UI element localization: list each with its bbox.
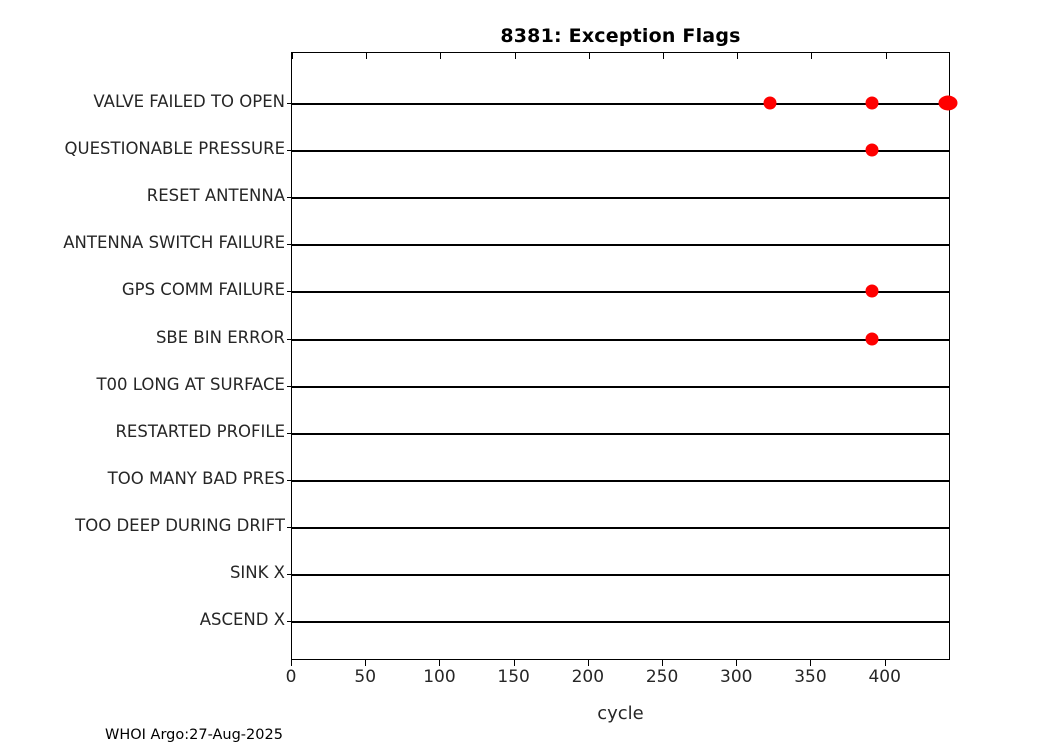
y-axis-tick-label: VALVE FAILED TO OPEN: [93, 94, 285, 111]
data-point-marker: [866, 285, 879, 298]
flag-row-line: [292, 103, 949, 105]
y-axis-tick-label: SBE BIN ERROR: [156, 329, 285, 346]
footer-credit: WHOI Argo:27-Aug-2025: [105, 727, 283, 743]
y-axis-tick-label: RESTARTED PROFILE: [115, 423, 285, 440]
y-axis-tick: [287, 433, 293, 434]
plot-area: [291, 52, 950, 660]
x-axis-tick: [810, 660, 811, 666]
flag-row-line: [292, 197, 949, 199]
y-axis-tick: [287, 339, 293, 340]
y-axis-tick-label: TOO MANY BAD PRES: [108, 471, 285, 488]
x-axis-tick-label: 100: [423, 669, 455, 686]
x-axis-tick-label: 350: [794, 669, 826, 686]
data-point-marker: [866, 144, 879, 157]
y-axis-tick: [287, 291, 293, 292]
flag-row-line: [292, 244, 949, 246]
x-axis-tick: [662, 660, 663, 666]
y-axis-tick-label: ASCEND X: [200, 612, 285, 629]
flag-row-line: [292, 527, 949, 529]
x-axis-tick-label: 150: [497, 669, 529, 686]
x-axis-tick-label: 200: [572, 669, 604, 686]
y-axis-tick-label: T00 LONG AT SURFACE: [96, 376, 285, 393]
data-point-marker: [763, 97, 776, 110]
x-axis-tick-top: [811, 53, 812, 59]
y-axis-tick: [287, 574, 293, 575]
y-axis-tick-label: RESET ANTENNA: [147, 188, 285, 205]
exception-flags-figure: 8381: Exception Flags VALVE FAILED TO OP…: [0, 0, 1050, 750]
data-point-marker: [866, 332, 879, 345]
flag-row-line: [292, 433, 949, 435]
y-axis-tick-label: ANTENNA SWITCH FAILURE: [63, 235, 285, 252]
y-axis-tick-label: GPS COMM FAILURE: [122, 282, 285, 299]
x-axis-tick-top: [515, 53, 516, 59]
y-axis-tick: [287, 621, 293, 622]
y-axis-tick-label: TOO DEEP DURING DRIFT: [75, 518, 285, 535]
data-point-marker: [939, 96, 958, 111]
flag-row-line: [292, 339, 949, 341]
flag-row-line: [292, 291, 949, 293]
x-axis-tick: [365, 660, 366, 666]
x-axis-tick-label: 300: [720, 669, 752, 686]
x-axis-tick: [514, 660, 515, 666]
x-axis-tick-label: 250: [646, 669, 678, 686]
x-axis-tick-label: 0: [286, 669, 297, 686]
y-axis-tick: [287, 103, 293, 104]
x-axis-tick-top: [292, 53, 293, 59]
page-title: 8381: Exception Flags: [291, 25, 950, 47]
data-point-marker: [866, 97, 879, 110]
x-axis-tick-label: 50: [354, 669, 376, 686]
x-axis-tick: [736, 660, 737, 666]
y-axis-tick: [287, 480, 293, 481]
flag-row-line: [292, 480, 949, 482]
x-axis-tick-top: [737, 53, 738, 59]
x-axis-title: cycle: [291, 703, 950, 724]
x-axis-tick-top: [663, 53, 664, 59]
x-axis-tick-top: [589, 53, 590, 59]
y-axis-tick: [287, 150, 293, 151]
flag-row-line: [292, 150, 949, 152]
x-axis-tick: [885, 660, 886, 666]
flag-row-line: [292, 386, 949, 388]
y-axis-tick: [287, 197, 293, 198]
y-axis-tick: [287, 244, 293, 245]
y-axis-tick-label: SINK X: [230, 565, 285, 582]
x-axis-tick-top: [366, 53, 367, 59]
y-axis-tick: [287, 527, 293, 528]
x-axis-tick-top: [886, 53, 887, 59]
x-axis-tick-label: 400: [868, 669, 900, 686]
x-axis-tick: [588, 660, 589, 666]
y-axis-labels: VALVE FAILED TO OPENQUESTIONABLE PRESSUR…: [0, 52, 285, 660]
y-axis-tick-label: QUESTIONABLE PRESSURE: [65, 141, 285, 158]
x-axis-tick: [439, 660, 440, 666]
x-axis-tick: [291, 660, 292, 666]
flag-row-line: [292, 621, 949, 623]
flag-row-line: [292, 574, 949, 576]
y-axis-tick: [287, 386, 293, 387]
x-axis-tick-top: [440, 53, 441, 59]
